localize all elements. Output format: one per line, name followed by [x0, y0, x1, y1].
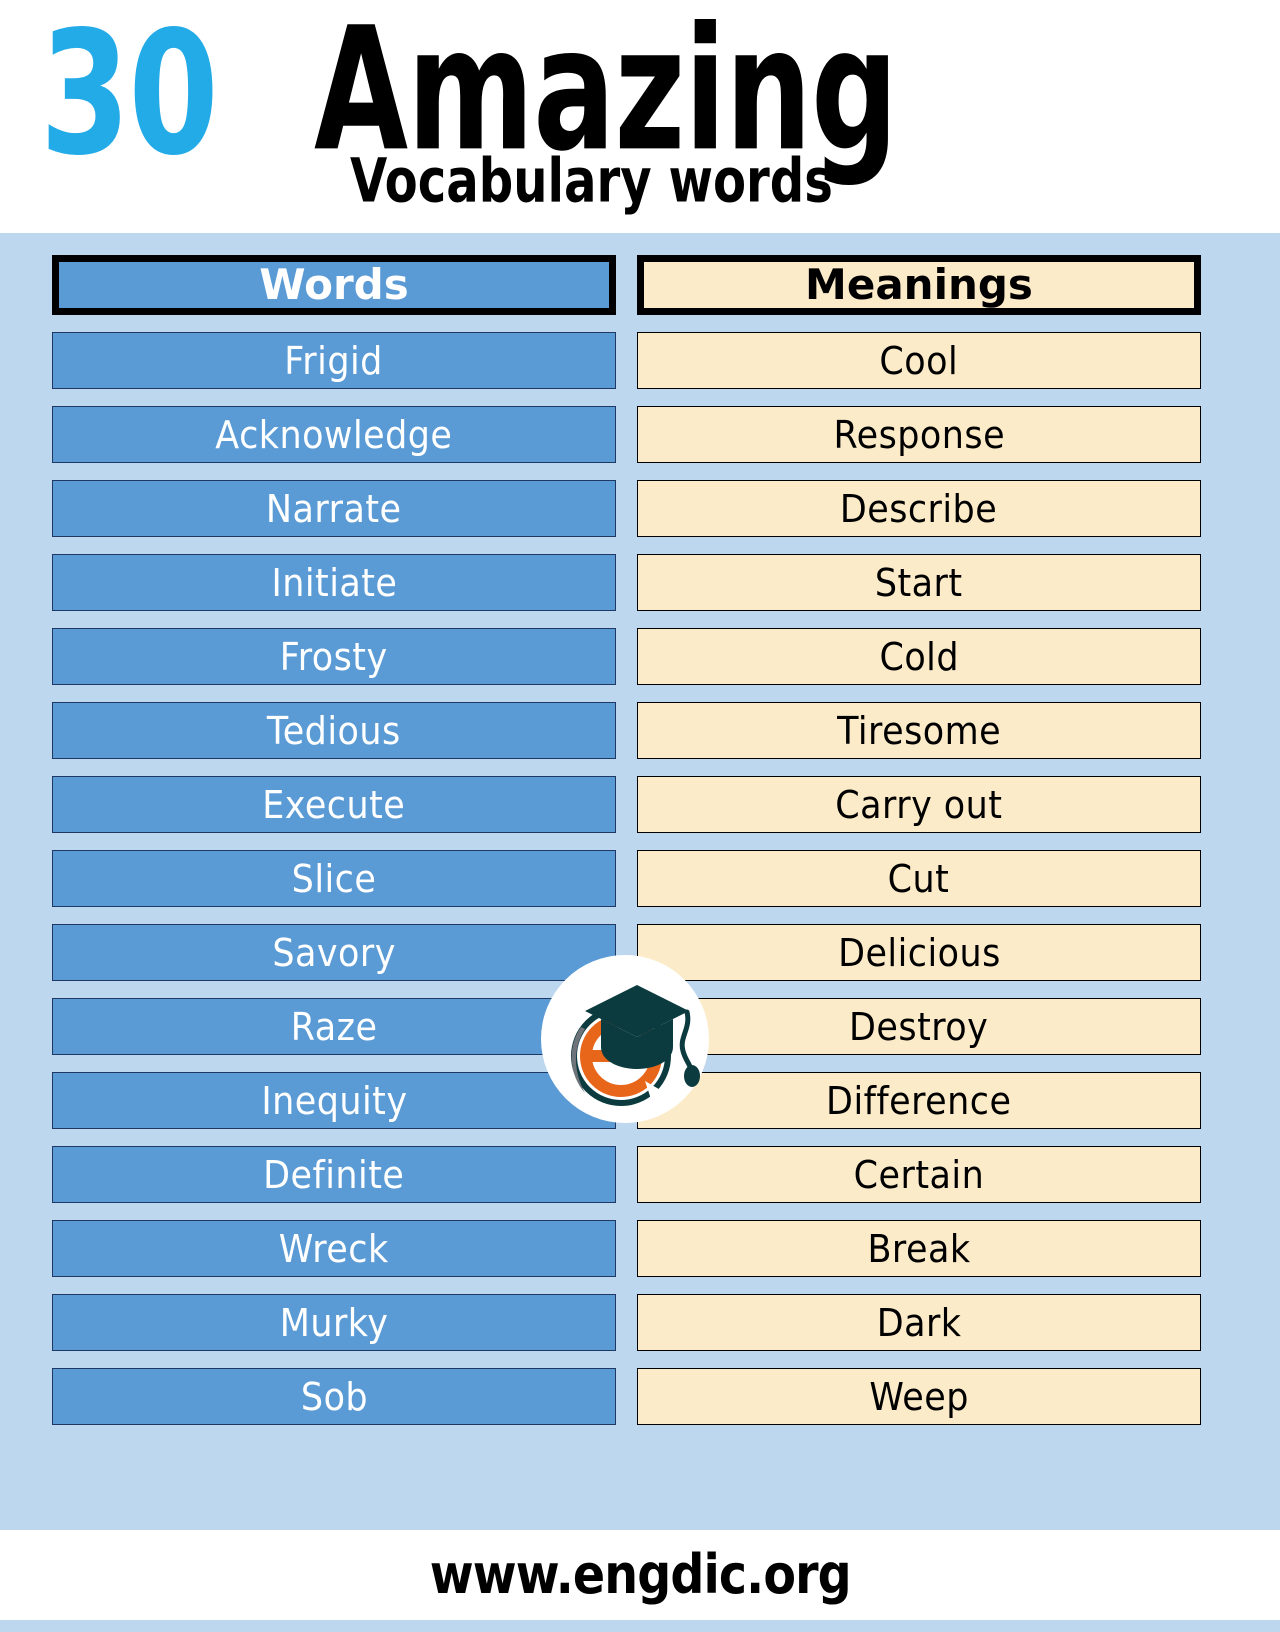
meaning-cell: Break	[637, 1220, 1201, 1277]
word-cell: Acknowledge	[52, 406, 616, 463]
meaning-label: Certain	[854, 1156, 985, 1194]
meaning-label: Cool	[880, 342, 959, 380]
word-cell: Murky	[52, 1294, 616, 1351]
meaning-cell: Cold	[637, 628, 1201, 685]
meaning-cell: Dark	[637, 1294, 1201, 1351]
word-label: Execute	[262, 786, 405, 824]
footer-accent-strip	[0, 1620, 1280, 1632]
word-label: Raze	[291, 1008, 378, 1046]
meaning-label: Describe	[840, 490, 997, 528]
engdic-logo	[541, 955, 709, 1123]
meaning-cell: Cut	[637, 850, 1201, 907]
meaning-label: Difference	[826, 1082, 1011, 1120]
meaning-cell: Delicious	[637, 924, 1201, 981]
column-header-words: Words	[52, 255, 616, 315]
meaning-label: Break	[867, 1230, 970, 1268]
word-cell: Initiate	[52, 554, 616, 611]
page-subtitle: Vocabulary words	[350, 152, 833, 212]
meaning-label: Cold	[879, 638, 959, 676]
meaning-cell: Start	[637, 554, 1201, 611]
meaning-label: Destroy	[849, 1008, 988, 1046]
title-row: 30 Amazing	[40, 0, 1043, 166]
word-label: Sob	[300, 1378, 367, 1416]
meaning-cell: Weep	[637, 1368, 1201, 1425]
word-cell: Wreck	[52, 1220, 616, 1277]
word-label: Inequity	[261, 1082, 407, 1120]
word-label: Narrate	[266, 490, 402, 528]
word-cell: Raze	[52, 998, 616, 1055]
column-header-meanings: Meanings	[637, 255, 1201, 315]
meaning-label: Tiresome	[837, 712, 1001, 750]
meaning-label: Delicious	[838, 934, 1001, 972]
word-label: Tedious	[267, 712, 401, 750]
meanings-column: Meanings CoolResponseDescribeStartColdTi…	[637, 233, 1201, 1425]
word-label: Wreck	[279, 1230, 389, 1268]
meaning-cell: Describe	[637, 480, 1201, 537]
word-label: Frigid	[285, 342, 384, 380]
word-count-number: 30	[40, 0, 217, 180]
page-footer: www.engdic.org	[0, 1530, 1280, 1620]
word-cell: Narrate	[52, 480, 616, 537]
page-header: 30 Amazing Vocabulary words	[0, 0, 1280, 233]
word-label: Slice	[292, 860, 377, 898]
word-label: Savory	[272, 934, 396, 972]
meaning-cell: Certain	[637, 1146, 1201, 1203]
word-label: Initiate	[271, 564, 397, 602]
graduation-cap-e-icon	[541, 955, 709, 1123]
meaning-label: Response	[833, 416, 1005, 454]
website-url[interactable]: www.engdic.org	[429, 1548, 850, 1602]
word-cell: Sob	[52, 1368, 616, 1425]
meaning-label: Dark	[877, 1304, 962, 1342]
meaning-cell: Difference	[637, 1072, 1201, 1129]
meaning-cell: Response	[637, 406, 1201, 463]
word-cell: Execute	[52, 776, 616, 833]
word-cell: Frigid	[52, 332, 616, 389]
meanings-list: CoolResponseDescribeStartColdTiresomeCar…	[637, 332, 1201, 1425]
meaning-cell: Cool	[637, 332, 1201, 389]
word-label: Acknowledge	[215, 416, 452, 454]
word-cell: Savory	[52, 924, 616, 981]
word-label: Frosty	[280, 638, 388, 676]
meaning-label: Cut	[888, 860, 950, 898]
vocabulary-board: Words FrigidAcknowledgeNarrateInitiateFr…	[0, 233, 1280, 1530]
meaning-cell: Tiresome	[637, 702, 1201, 759]
meaning-label: Weep	[869, 1378, 969, 1416]
word-label: Definite	[263, 1156, 404, 1194]
word-cell: Slice	[52, 850, 616, 907]
meaning-cell: Destroy	[637, 998, 1201, 1055]
words-column: Words FrigidAcknowledgeNarrateInitiateFr…	[52, 233, 616, 1425]
meaning-label: Carry out	[835, 786, 1002, 824]
meaning-label: Start	[875, 564, 963, 602]
words-list: FrigidAcknowledgeNarrateInitiateFrostyTe…	[52, 332, 616, 1425]
word-cell: Inequity	[52, 1072, 616, 1129]
word-label: Murky	[280, 1304, 389, 1342]
word-cell: Tedious	[52, 702, 616, 759]
word-cell: Definite	[52, 1146, 616, 1203]
meaning-cell: Carry out	[637, 776, 1201, 833]
word-cell: Frosty	[52, 628, 616, 685]
